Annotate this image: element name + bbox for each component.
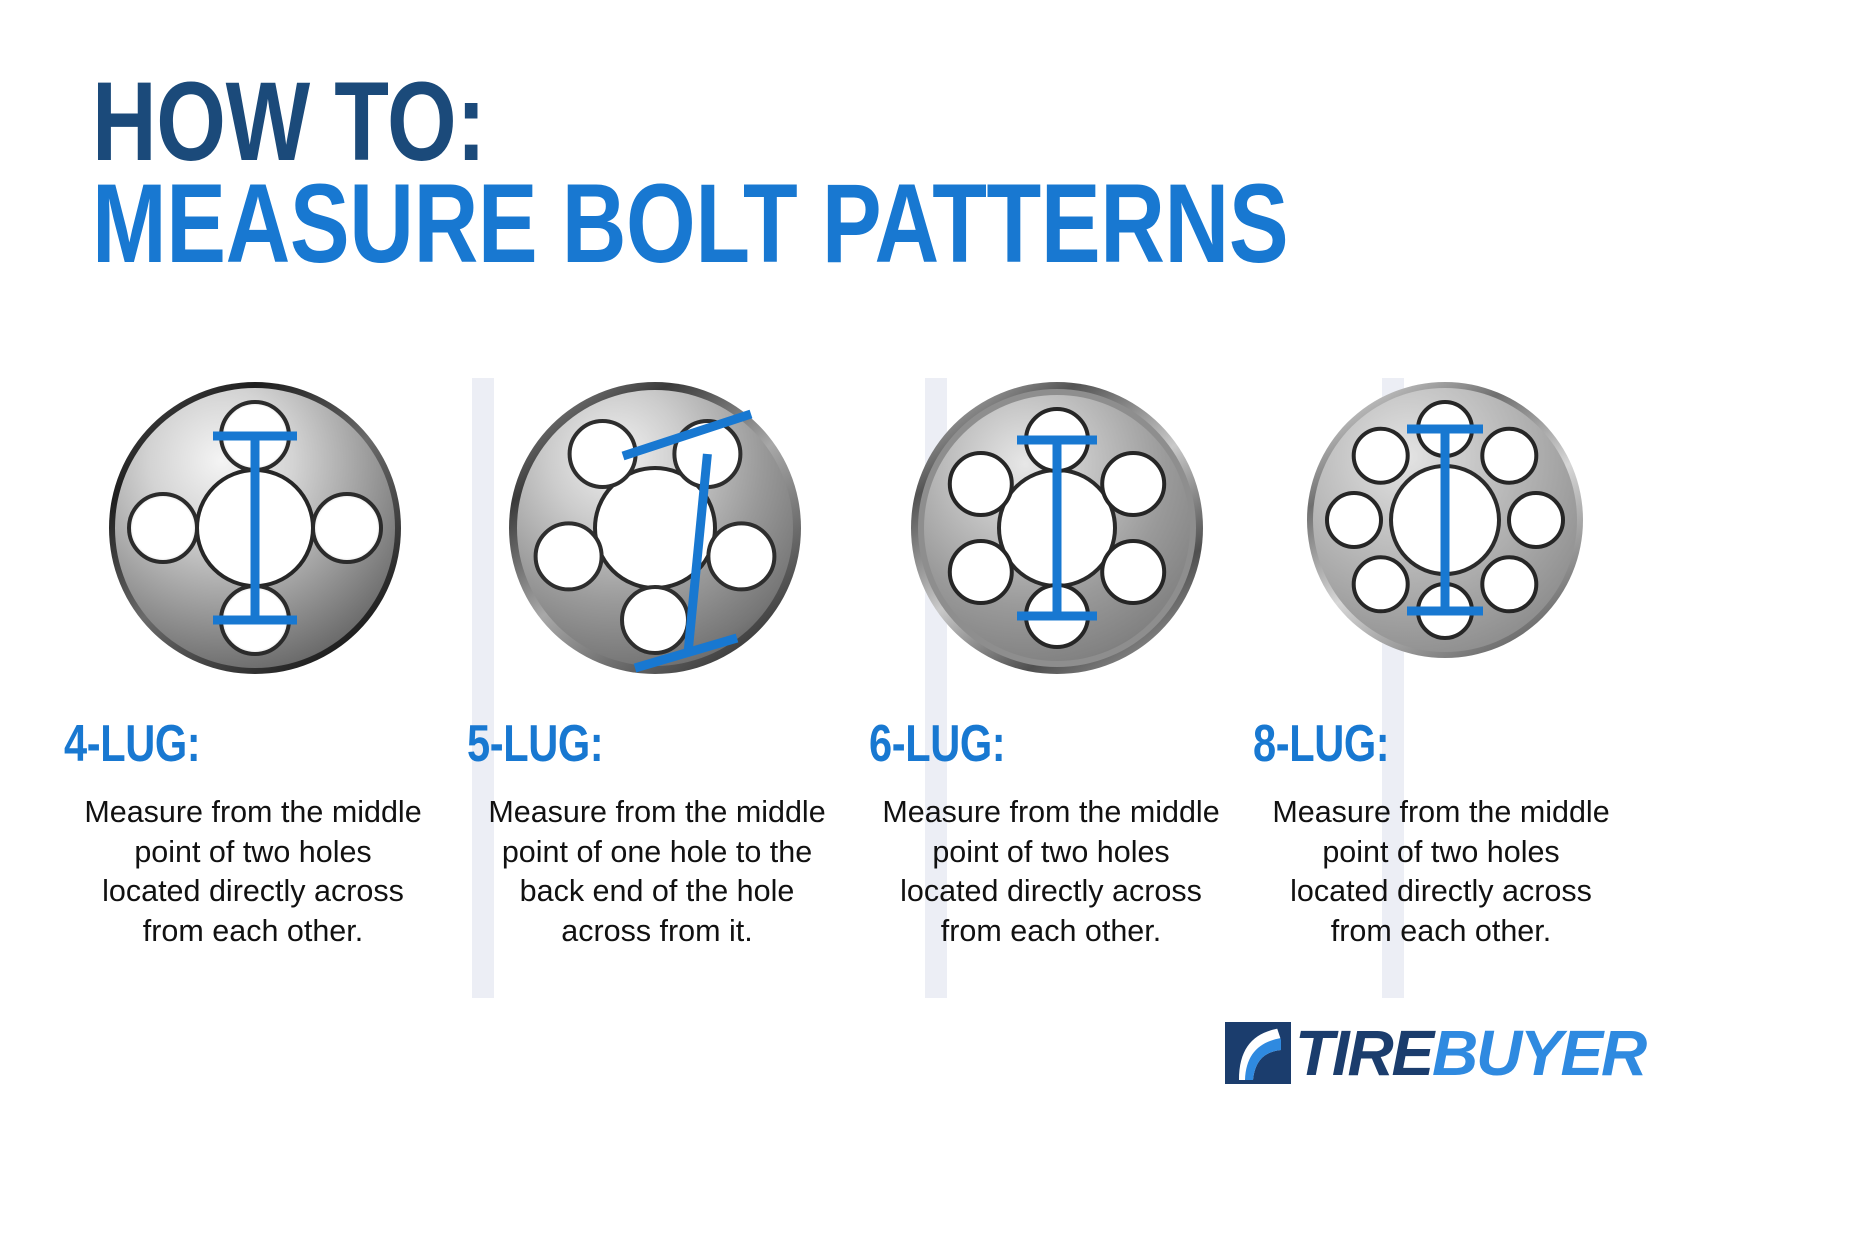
infographic-canvas: HOW TO: MEASURE BOLT PATTERNS: [0, 0, 1875, 1248]
lug-description-8-lug: Measure from the middle point of two hol…: [1241, 793, 1641, 952]
logo-text-buyer: BUYER: [1432, 1017, 1645, 1089]
tirebuyer-logo: TIREBUYER: [1225, 1018, 1645, 1088]
logo-text-tire: TIRE: [1295, 1017, 1432, 1089]
lug-heading-8-lug: 8-LUG:: [1245, 718, 1653, 770]
column-8-lug: 8-LUG: Measure from the middle point of …: [1245, 378, 1645, 1018]
tirebuyer-mark-icon: [1225, 1020, 1291, 1086]
wheel-diagram-6-lug: [857, 378, 1257, 708]
wheel-diagram-5-lug: [455, 378, 855, 708]
wheel-diagram-8-lug: [1245, 378, 1645, 708]
lug-description-5-lug: Measure from the middle point of one hol…: [457, 793, 857, 952]
lug-description-6-lug: Measure from the middle point of two hol…: [851, 793, 1251, 952]
title-line-how-to: HOW TO:: [92, 74, 1288, 170]
lug-description-4-lug: Measure from the middle point of two hol…: [53, 793, 453, 952]
wheel-illustration-5-lug: [505, 378, 805, 678]
column-4-lug: 4-LUG: Measure from the middle point of …: [55, 378, 455, 1018]
wheel-illustration-4-lug: [105, 378, 405, 678]
column-5-lug: 5-LUG: Measure from the middle point of …: [455, 378, 855, 1018]
title-line-measure-bolt-patterns: MEASURE BOLT PATTERNS: [92, 176, 1288, 272]
page-title: HOW TO: MEASURE BOLT PATTERNS: [92, 74, 1587, 273]
column-6-lug: 6-LUG: Measure from the middle point of …: [857, 378, 1257, 1018]
lug-heading-5-lug: 5-LUG:: [455, 718, 867, 770]
lug-heading-4-lug: 4-LUG:: [55, 718, 464, 770]
wheel-illustration-8-lug: [1303, 378, 1587, 662]
tirebuyer-wordmark: TIREBUYER: [1295, 1021, 1645, 1085]
lug-heading-6-lug: 6-LUG:: [857, 718, 1269, 770]
wheel-diagram-4-lug: [55, 378, 455, 708]
wheel-illustration-6-lug: [907, 378, 1207, 678]
columns-container: 4-LUG: Measure from the middle point of …: [0, 378, 1875, 1018]
